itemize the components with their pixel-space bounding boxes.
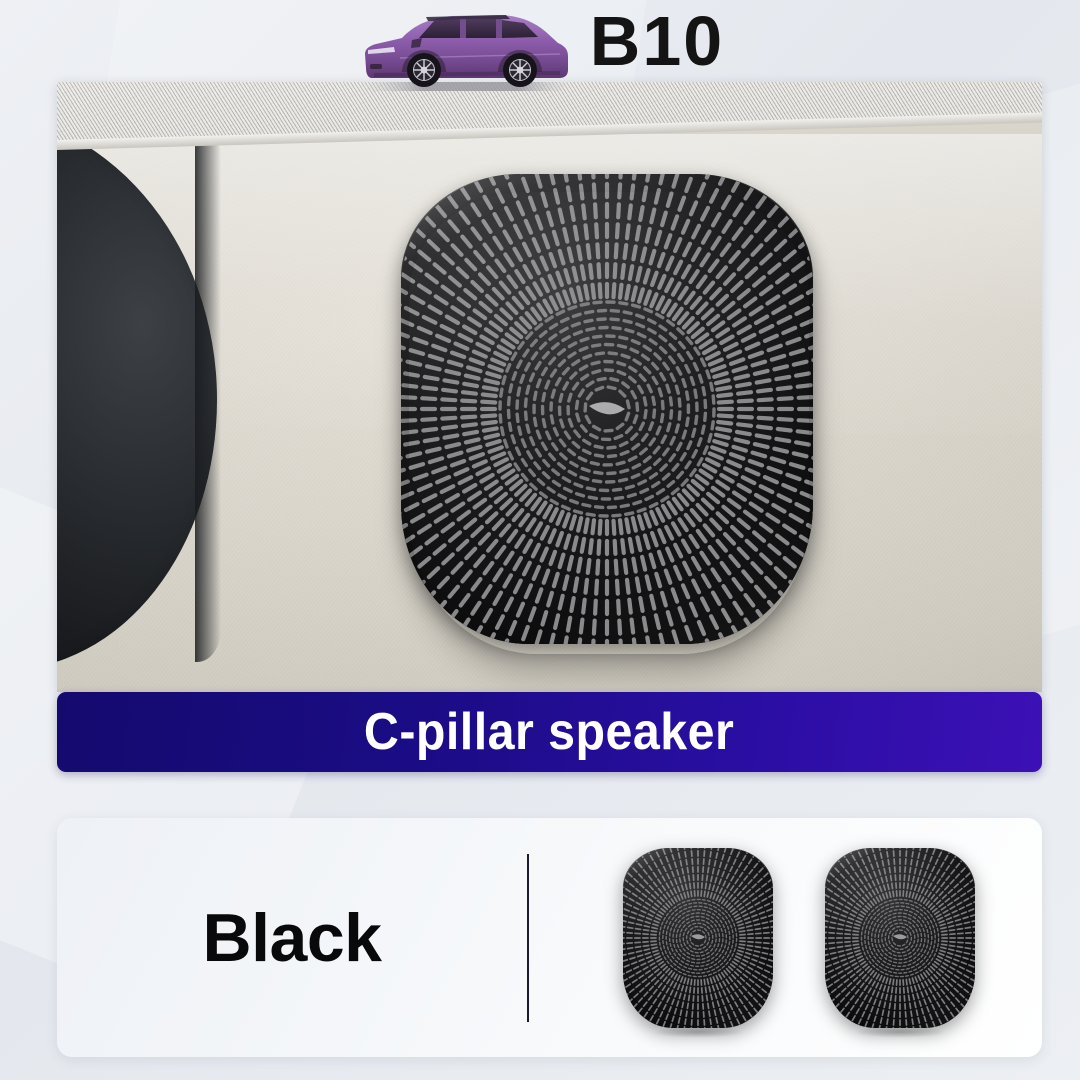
window-glass-edge (195, 122, 221, 662)
product-title-banner: C-pillar speaker (57, 692, 1042, 772)
header: B10 (0, 0, 1080, 96)
speaker-cover-thumbnail-right[interactable] (825, 848, 975, 1028)
speaker-cover-thumbnail-left[interactable] (623, 848, 773, 1028)
color-variant-label: Black (57, 904, 527, 972)
product-detail-page: B10 (0, 0, 1080, 1080)
speaker-cover-thumbnail-right-wrap[interactable] (825, 848, 975, 1028)
c-pillar-speaker-grille (401, 174, 813, 644)
speaker-cover-thumbnail-left-wrap[interactable] (623, 848, 773, 1028)
color-variant-card: Black (57, 818, 1042, 1057)
thumbnail-shadow (837, 1024, 963, 1040)
product-title-text: C-pillar speaker (364, 706, 734, 758)
vehicle-model-name: B10 (590, 6, 724, 76)
c-pillar-interior-photo (57, 82, 1042, 692)
vehicle-image (356, 2, 576, 96)
thumbnail-shadow (635, 1024, 761, 1040)
variant-thumbnail-group (529, 848, 1042, 1028)
